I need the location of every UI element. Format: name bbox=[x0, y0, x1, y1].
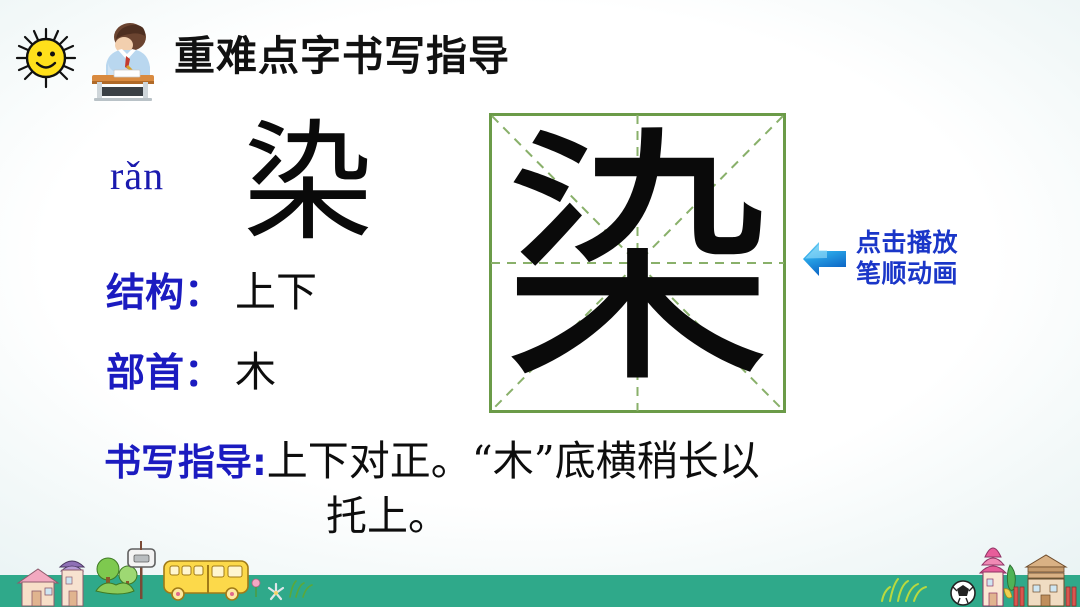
page-title: 重难点字书写指导 bbox=[174, 36, 510, 81]
slide-root: 重难点字书写指导 rǎn 染 结构： 上下 部首： 木 书写指导: 上下对正。“… bbox=[0, 0, 1080, 607]
ground-strip bbox=[0, 575, 1080, 607]
house-pink-left bbox=[18, 569, 58, 606]
guidance-text-line1: 上下对正。“木”底横稍长以 bbox=[267, 438, 760, 485]
play-hint-text[interactable]: 点击播放 笔顺动画 bbox=[856, 228, 958, 289]
bush-green bbox=[96, 583, 134, 594]
radical-row: 部首： 木 bbox=[106, 352, 276, 393]
smiling-sun-icon bbox=[14, 26, 78, 90]
house-purple-roof bbox=[60, 561, 84, 606]
character-grid-box: 染 bbox=[489, 113, 786, 413]
structure-value: 上下 bbox=[235, 272, 317, 313]
structure-row: 结构： 上下 bbox=[106, 272, 317, 313]
guidance-first-line: 书写指导: 上下对正。“木”底横稍长以 bbox=[104, 438, 984, 485]
play-stroke-animation-button[interactable]: 点击播放 笔顺动画 bbox=[800, 228, 958, 289]
soccer-ball bbox=[951, 581, 975, 605]
guidance-label: 书写指导: bbox=[104, 442, 267, 485]
play-hint-line1: 点击播放 bbox=[856, 228, 958, 259]
tower-house-pink bbox=[980, 548, 1015, 606]
radical-value: 木 bbox=[235, 352, 276, 393]
radical-label: 部首： bbox=[106, 354, 223, 393]
arrow-left-icon[interactable] bbox=[800, 235, 850, 283]
headword-character: 染 bbox=[243, 118, 373, 248]
student-writing-icon bbox=[78, 15, 158, 101]
writing-guidance: 书写指导: 上下对正。“木”底横稍长以 托上。 bbox=[104, 438, 984, 540]
play-hint-line2: 笔顺动画 bbox=[856, 259, 958, 290]
slide-header: 重难点字书写指导 bbox=[14, 12, 510, 104]
pinyin-label: rǎn bbox=[110, 152, 164, 199]
decorative-bottom-strip bbox=[0, 527, 1080, 607]
structure-label: 结构： bbox=[106, 274, 223, 313]
